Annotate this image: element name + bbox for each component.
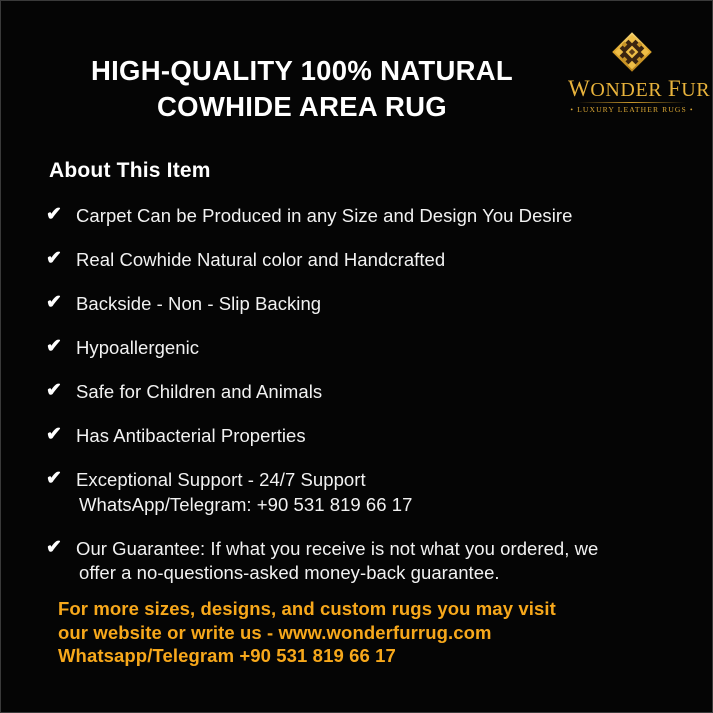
footer-line-2: our website or write us - www.wonderfurr… (58, 621, 556, 645)
footer-line-1: For more sizes, designs, and custom rugs… (58, 597, 556, 621)
page-title: HIGH-QUALITY 100% NATURAL COWHIDE AREA R… (37, 53, 567, 125)
page-title-line-2: COWHIDE AREA RUG (37, 89, 567, 125)
logo-wordmark: WONDER FUR (568, 77, 696, 100)
list-item: ✔ Our Guarantee: If what you receive is … (46, 537, 682, 586)
feature-text: Safe for Children and Animals (76, 380, 322, 405)
page-title-line-1: HIGH-QUALITY 100% NATURAL (37, 53, 567, 89)
feature-text: Has Antibacterial Properties (76, 424, 306, 449)
feature-text: Exceptional Support - 24/7 Support Whats… (76, 468, 412, 517)
check-icon: ✔ (46, 536, 76, 560)
check-icon: ✔ (46, 467, 76, 491)
list-item: ✔ Real Cowhide Natural color and Handcra… (46, 248, 682, 273)
logo-wordmark-f: F (668, 76, 681, 101)
feature-text-line-1: Carpet Can be Produced in any Size and D… (76, 205, 572, 226)
feature-text: Hypoallergenic (76, 336, 199, 361)
feature-text-line-2: WhatsApp/Telegram: +90 531 819 66 17 (79, 493, 412, 518)
logo-wordmark-w: W (568, 76, 590, 101)
check-icon: ✔ (46, 379, 76, 403)
feature-text-line-1: Safe for Children and Animals (76, 381, 322, 402)
logo-divider (578, 102, 686, 103)
feature-text-line-1: Backside - Non - Slip Backing (76, 293, 321, 314)
header: HIGH-QUALITY 100% NATURAL COWHIDE AREA R… (1, 1, 712, 143)
feature-text: Real Cowhide Natural color and Handcraft… (76, 248, 445, 273)
check-icon: ✔ (46, 247, 76, 271)
feature-text-line-1: Our Guarantee: If what you receive is no… (76, 538, 598, 559)
list-item: ✔ Backside - Non - Slip Backing (46, 292, 682, 317)
list-item: ✔ Exceptional Support - 24/7 Support Wha… (46, 468, 682, 517)
footer-line-3: Whatsapp/Telegram +90 531 819 66 17 (58, 644, 556, 668)
feature-text: Our Guarantee: If what you receive is no… (76, 537, 598, 586)
check-icon: ✔ (46, 423, 76, 447)
feature-text-line-1: Hypoallergenic (76, 337, 199, 358)
logo-tagline: • LUXURY LEATHER RUGS • (568, 106, 696, 114)
feature-text-line-1: Exceptional Support - 24/7 Support (76, 469, 366, 490)
feature-text: Backside - Non - Slip Backing (76, 292, 321, 317)
about-this-item-heading: About This Item (49, 159, 211, 183)
footer-contact-block: For more sizes, designs, and custom rugs… (58, 597, 556, 668)
feature-text-line-2: offer a no-questions-asked money-back gu… (79, 561, 598, 586)
feature-text: Carpet Can be Produced in any Size and D… (76, 204, 572, 229)
check-icon: ✔ (46, 335, 76, 359)
list-item: ✔ Hypoallergenic (46, 336, 682, 361)
list-item: ✔ Carpet Can be Produced in any Size and… (46, 204, 682, 229)
logo-wordmark-ur: UR (681, 79, 710, 101)
list-item: ✔ Safe for Children and Animals (46, 380, 682, 405)
check-icon: ✔ (46, 203, 76, 227)
list-item: ✔ Has Antibacterial Properties (46, 424, 682, 449)
feature-text-line-1: Real Cowhide Natural color and Handcraft… (76, 249, 445, 270)
feature-list: ✔ Carpet Can be Produced in any Size and… (46, 204, 682, 605)
product-info-card: HIGH-QUALITY 100% NATURAL COWHIDE AREA R… (1, 1, 712, 712)
brand-logo: WONDER FUR • LUXURY LEATHER RUGS • (568, 27, 696, 114)
check-icon: ✔ (46, 291, 76, 315)
feature-text-line-1: Has Antibacterial Properties (76, 425, 306, 446)
diamond-logo-icon (607, 27, 657, 77)
logo-wordmark-onder: ONDER (590, 79, 662, 101)
